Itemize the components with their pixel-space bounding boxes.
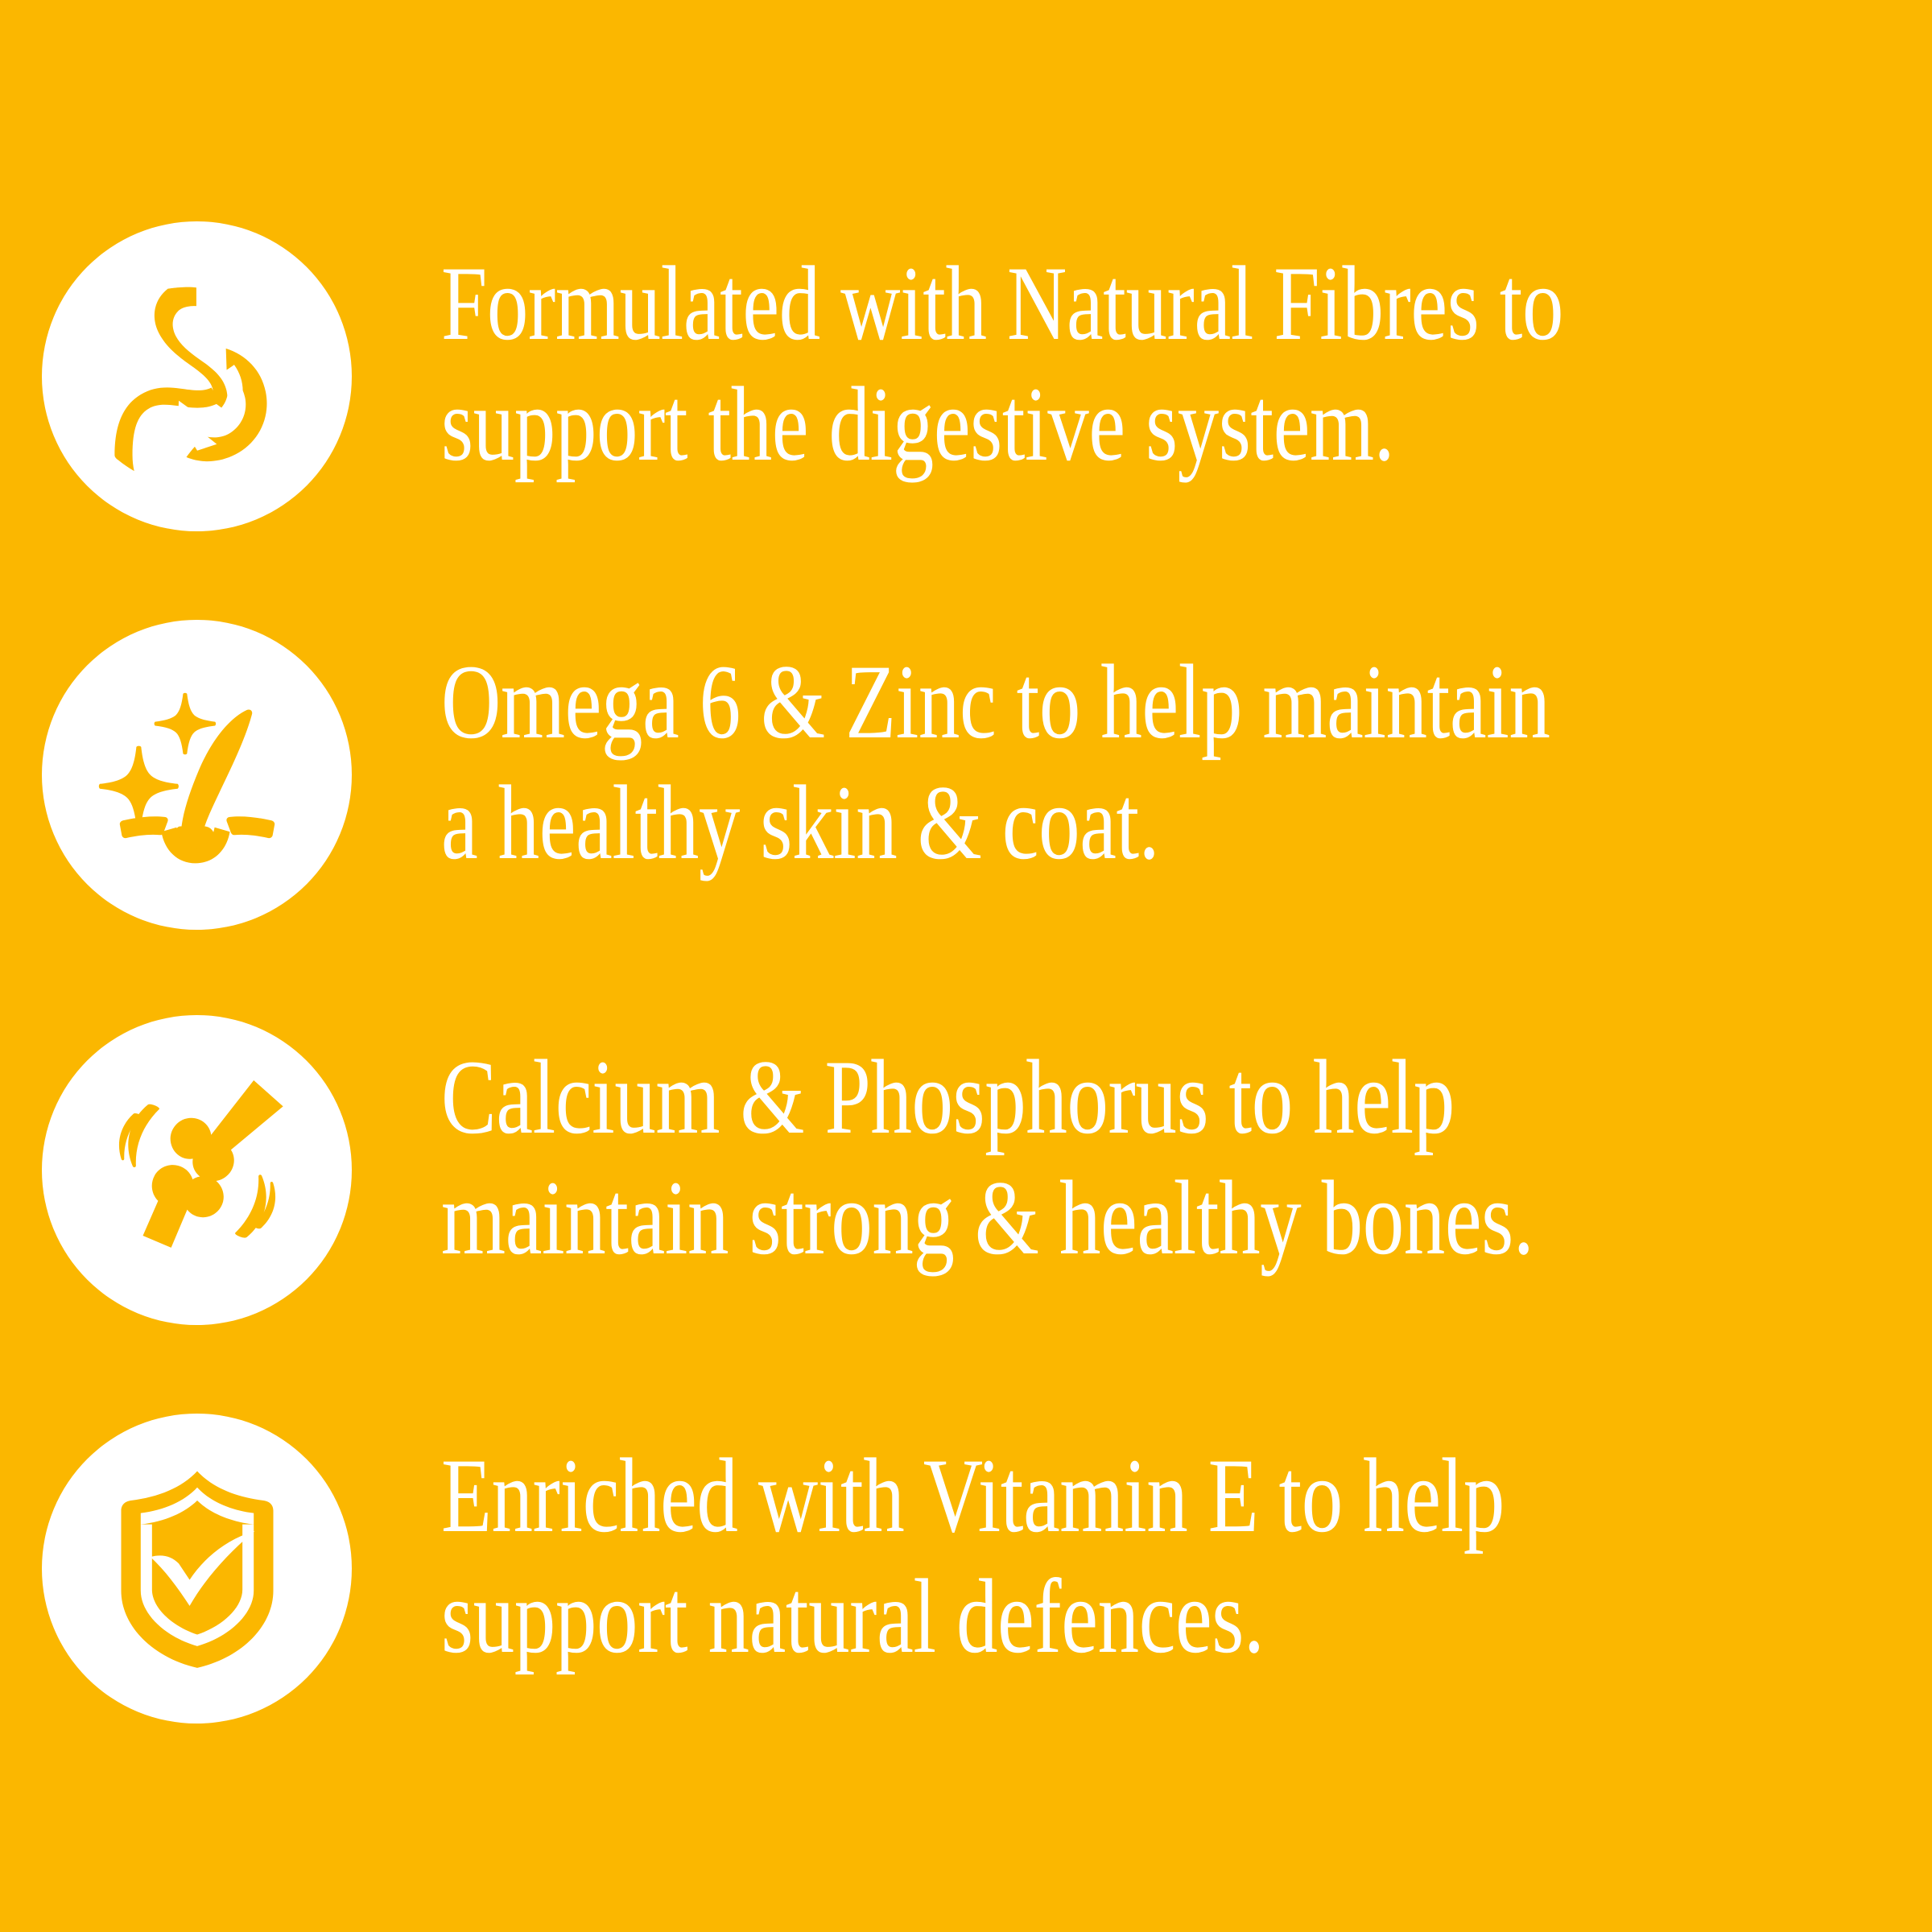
benefits-panel: Formulated with Natural Fibres to suppor… <box>0 0 1932 1932</box>
stomach-digestion-icon <box>42 221 352 531</box>
benefit-row: Enriched with Vitamin E to help support … <box>0 1414 1932 1724</box>
hair-follicle-sparkle-icon <box>42 620 352 930</box>
benefit-text: Formulated with Natural Fibres to suppor… <box>441 243 1571 485</box>
benefit-text: Enriched with Vitamin E to help support … <box>441 1435 1571 1678</box>
benefit-text: Calcium & Phosphorus to help maintain st… <box>441 1037 1571 1279</box>
benefit-row: Calcium & Phosphorus to help maintain st… <box>0 1015 1932 1325</box>
shield-check-icon <box>42 1414 352 1724</box>
bones-vibration-icon <box>42 1015 352 1325</box>
benefit-text: Omega 6 & Zinc to help maintain a health… <box>441 642 1571 884</box>
benefit-row: Formulated with Natural Fibres to suppor… <box>0 221 1932 531</box>
benefit-row: Omega 6 & Zinc to help maintain a health… <box>0 620 1932 930</box>
